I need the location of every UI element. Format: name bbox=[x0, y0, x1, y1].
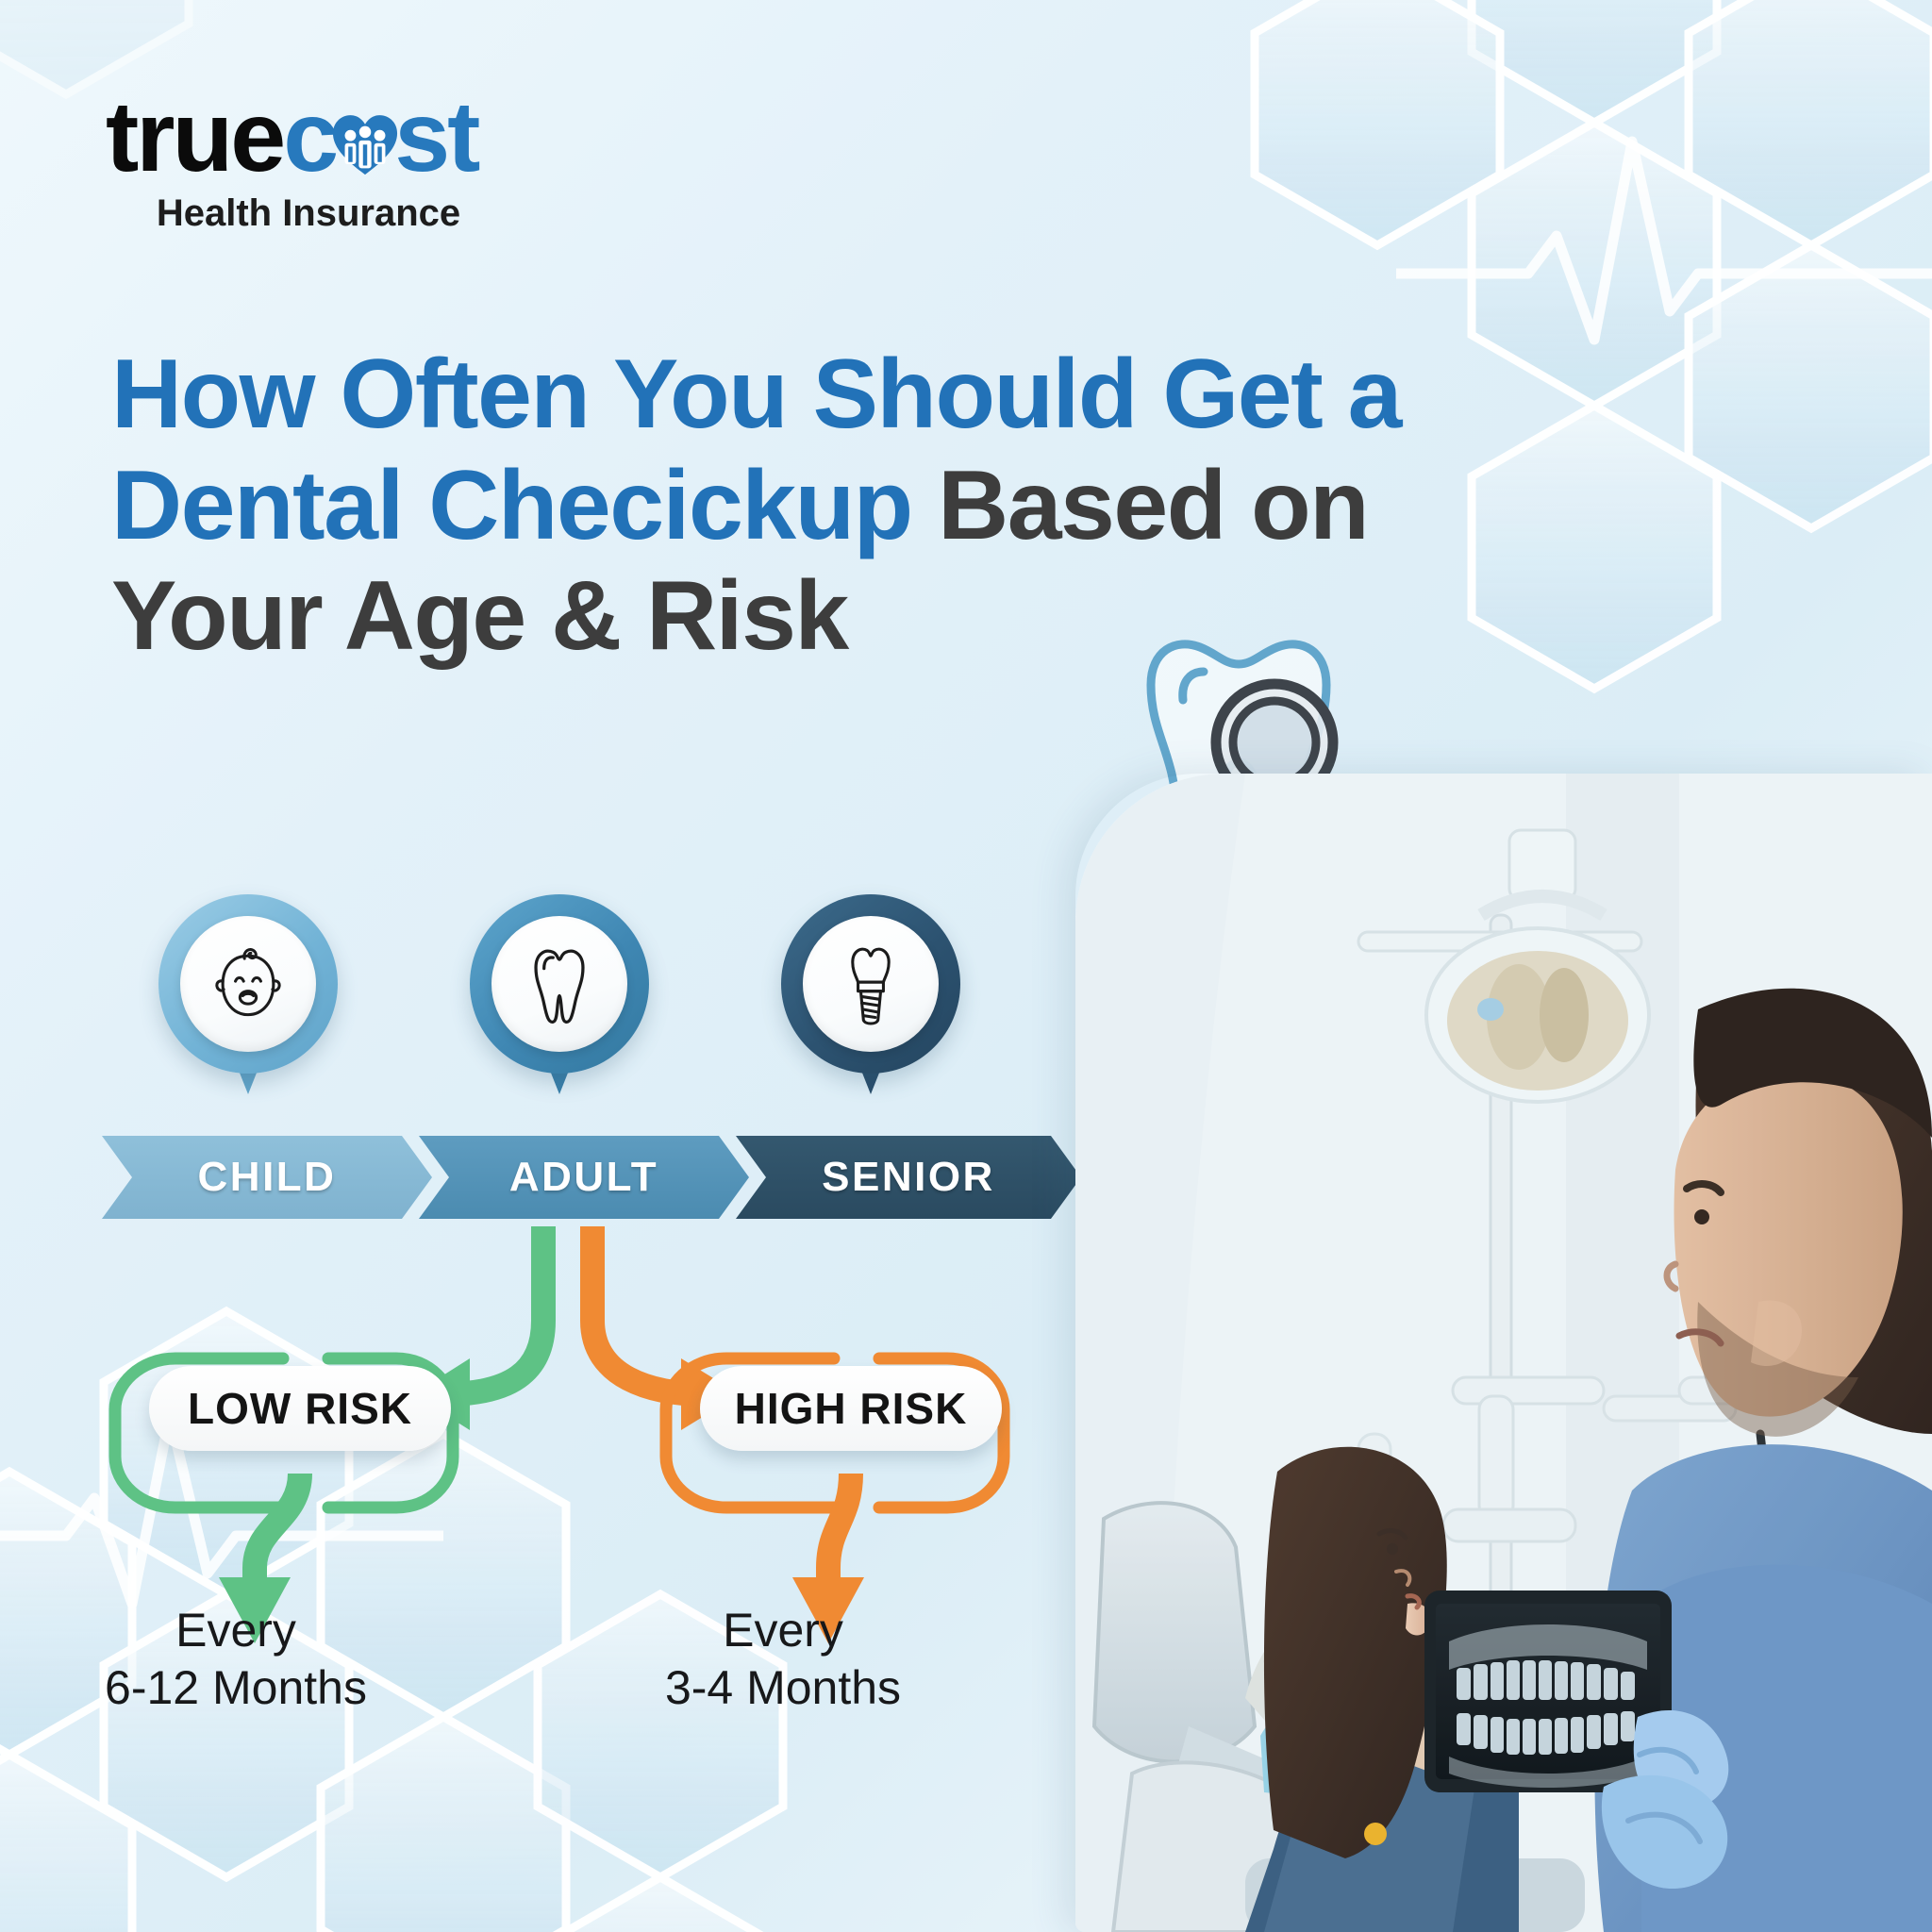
risk-badge-low[interactable]: LOW RISK bbox=[149, 1366, 451, 1451]
clinic-photo bbox=[1075, 774, 1932, 1932]
risk-label-low: LOW RISK bbox=[188, 1383, 412, 1434]
frequency-high-line-1: Every bbox=[585, 1602, 981, 1659]
frequency-low-line-1: Every bbox=[38, 1602, 434, 1659]
photo-content bbox=[1075, 774, 1932, 1932]
frequency-low-risk: Every 6-12 Months bbox=[38, 1602, 434, 1717]
tooth-icon bbox=[491, 916, 627, 1052]
brand-logo[interactable]: truec st Health Insurance bbox=[106, 87, 511, 235]
logo-tagline: Health Insurance bbox=[106, 192, 511, 235]
band-stage-child[interactable]: CHILD bbox=[102, 1136, 432, 1219]
band-label-child: CHILD bbox=[198, 1154, 337, 1201]
stage-pin-senior[interactable] bbox=[781, 894, 960, 1113]
headline-line-3: Your Age & Risk bbox=[111, 561, 848, 671]
headline-line-2-blue: Dental Checickup bbox=[111, 451, 912, 560]
frequency-high-risk: Every 3-4 Months bbox=[585, 1602, 981, 1717]
band-label-senior: SENIOR bbox=[822, 1154, 995, 1201]
risk-badge-high[interactable]: HIGH RISK bbox=[700, 1366, 1002, 1451]
logo-text-cost-prefix: c bbox=[283, 81, 336, 192]
headline-line-2-dark: Based on bbox=[938, 451, 1368, 560]
stage-pin-adult[interactable] bbox=[470, 894, 649, 1113]
logo-wordmark: truec st bbox=[106, 87, 511, 187]
band-stage-adult[interactable]: ADULT bbox=[419, 1136, 749, 1219]
dental-implant-icon bbox=[803, 916, 939, 1052]
logo-text-true: true bbox=[106, 81, 283, 192]
headline-line-1: How Often You Should Get a bbox=[111, 340, 1401, 449]
logo-text-cost-suffix: st bbox=[394, 81, 477, 192]
infographic-poster: truec st Health Insurance bbox=[0, 0, 1932, 1932]
baby-face-icon bbox=[180, 916, 316, 1052]
age-stage-band: CHILD ADULT SENIOR bbox=[102, 1136, 1045, 1219]
heart-family-icon bbox=[330, 96, 400, 166]
frequency-high-line-2: 3-4 Months bbox=[585, 1659, 981, 1717]
band-label-adult: ADULT bbox=[509, 1154, 658, 1201]
frequency-low-line-2: 6-12 Months bbox=[38, 1659, 434, 1717]
band-stage-senior[interactable]: SENIOR bbox=[736, 1136, 1081, 1219]
stage-pin-child[interactable] bbox=[158, 894, 338, 1113]
risk-label-high: HIGH RISK bbox=[735, 1383, 968, 1434]
